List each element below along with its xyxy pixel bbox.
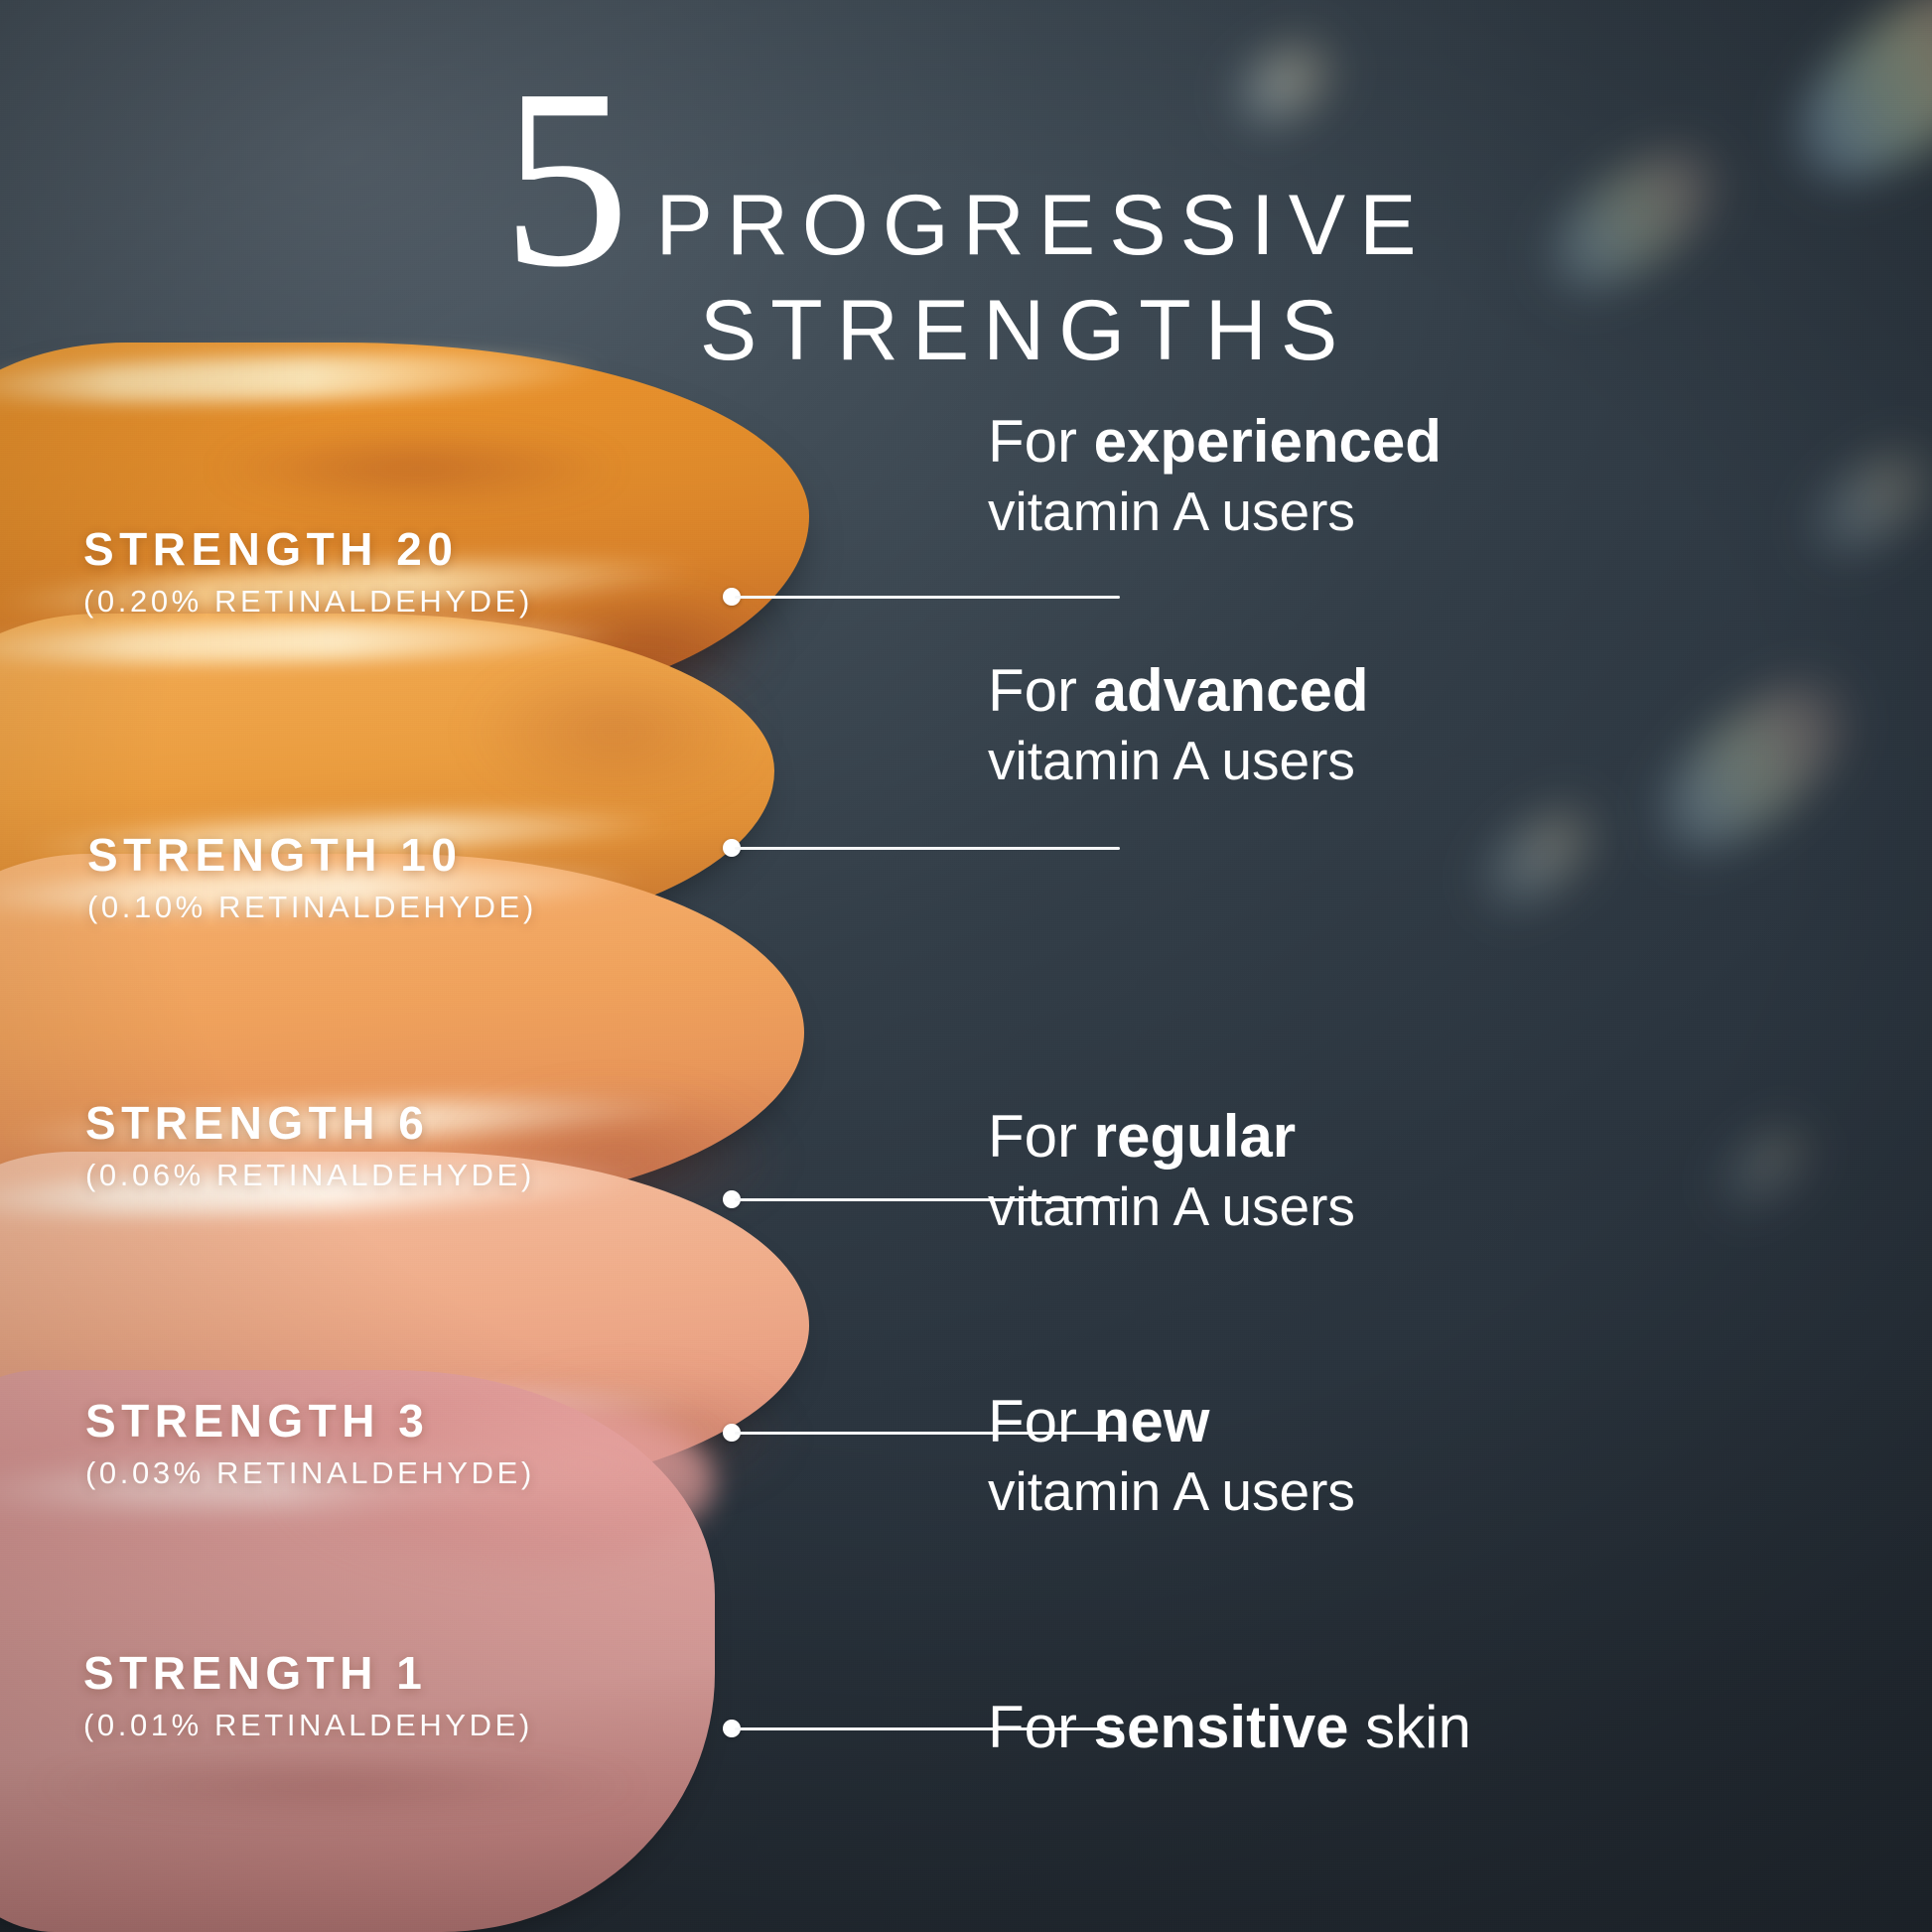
strength-name: STRENGTH 1 bbox=[83, 1650, 533, 1696]
lens-flare-icon bbox=[1522, 121, 1744, 318]
callout-connector-20 bbox=[723, 588, 1120, 606]
audience-text-1: For sensitive skin bbox=[988, 1696, 1471, 1759]
lens-flare-icon bbox=[1461, 785, 1619, 928]
strength-label-10: STRENGTH 10 (0.10% RETINALDEHYDE) bbox=[87, 832, 537, 922]
title-word-progressive: PROGRESSIVE bbox=[655, 183, 1430, 268]
strength-percent: (0.01% RETINALDEHYDE) bbox=[83, 1710, 533, 1740]
audience-line-1: For experienced bbox=[988, 410, 1442, 474]
audience-line-1: For advanced bbox=[988, 659, 1368, 723]
audience-prefix: For bbox=[988, 657, 1077, 724]
strength-percent: (0.03% RETINALDEHYDE) bbox=[85, 1457, 535, 1488]
audience-emphasis: sensitive bbox=[1094, 1694, 1349, 1760]
lens-flare-icon bbox=[1220, 24, 1351, 140]
strength-name: STRENGTH 10 bbox=[87, 832, 537, 878]
poster-canvas: 5 PROGRESSIVE STRENGTHS STRENGTH 20 (0.2… bbox=[0, 0, 1932, 1932]
audience-emphasis: new bbox=[1094, 1388, 1210, 1454]
lens-flare-icon bbox=[1629, 650, 1878, 883]
callout-connector-10 bbox=[723, 839, 1120, 857]
title-numeral: 5 bbox=[501, 75, 629, 280]
strength-label-20: STRENGTH 20 (0.20% RETINALDEHYDE) bbox=[83, 526, 533, 617]
audience-emphasis: advanced bbox=[1094, 657, 1369, 724]
strength-percent: (0.10% RETINALDEHYDE) bbox=[87, 892, 537, 922]
callout-rule bbox=[735, 847, 1120, 850]
audience-prefix: For bbox=[988, 408, 1077, 475]
strength-label-1: STRENGTH 1 (0.01% RETINALDEHYDE) bbox=[83, 1650, 533, 1740]
strength-label-3: STRENGTH 3 (0.03% RETINALDEHYDE) bbox=[85, 1398, 535, 1488]
audience-text-3: For new vitamin A users bbox=[988, 1390, 1355, 1522]
audience-prefix: For bbox=[988, 1388, 1077, 1454]
callout-rule bbox=[735, 596, 1120, 599]
audience-line-2: vitamin A users bbox=[988, 482, 1442, 543]
strength-percent: (0.20% RETINALDEHYDE) bbox=[83, 586, 533, 617]
audience-line-1: For new bbox=[988, 1390, 1355, 1453]
audience-line-2: vitamin A users bbox=[988, 731, 1368, 792]
audience-emphasis: regular bbox=[1094, 1103, 1296, 1170]
strength-name: STRENGTH 6 bbox=[85, 1100, 535, 1146]
audience-prefix: For bbox=[988, 1103, 1077, 1170]
audience-line-1: For sensitive skin bbox=[988, 1696, 1471, 1759]
strength-percent: (0.06% RETINALDEHYDE) bbox=[85, 1160, 535, 1190]
strength-name: STRENGTH 3 bbox=[85, 1398, 535, 1444]
audience-line-2: vitamin A users bbox=[988, 1461, 1355, 1523]
lens-flare-icon bbox=[1758, 0, 1932, 218]
audience-suffix: skin bbox=[1365, 1694, 1471, 1760]
audience-text-10: For advanced vitamin A users bbox=[988, 659, 1368, 791]
lens-flare-icon bbox=[1701, 1110, 1827, 1228]
audience-emphasis: experienced bbox=[1094, 408, 1442, 475]
audience-text-20: For experienced vitamin A users bbox=[988, 410, 1442, 542]
audience-line-2: vitamin A users bbox=[988, 1176, 1355, 1238]
audience-prefix: For bbox=[988, 1694, 1077, 1760]
strength-name: STRENGTH 20 bbox=[83, 526, 533, 572]
audience-text-6: For regular vitamin A users bbox=[988, 1105, 1355, 1237]
strength-label-6: STRENGTH 6 (0.06% RETINALDEHYDE) bbox=[85, 1100, 535, 1190]
audience-line-1: For regular bbox=[988, 1105, 1355, 1169]
lens-flare-icon bbox=[1787, 426, 1932, 579]
